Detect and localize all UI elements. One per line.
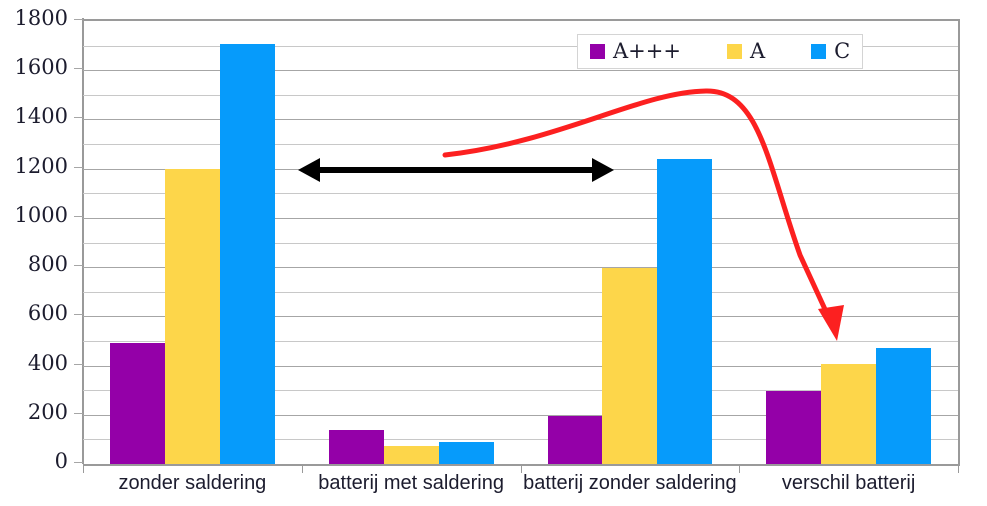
y-tick-label: 1600 [0, 57, 68, 78]
legend-item-a: A [727, 41, 765, 62]
y-tick-mark [74, 364, 83, 365]
x-axis-label-3: batterij zonder saldering [521, 472, 740, 495]
category-tick [958, 464, 959, 473]
y-tick-mark [74, 462, 83, 463]
x-axis-label-4: verschil batterij [739, 472, 958, 495]
chart-legend: A+++AC [577, 34, 863, 69]
bar-a-4 [821, 364, 876, 464]
y-tick-label: 600 [0, 303, 68, 324]
legend-label: A+++ [613, 41, 681, 62]
y-tick-label: 200 [0, 402, 68, 423]
y-tick-mark [74, 117, 83, 118]
y-tick-mark [74, 19, 83, 20]
legend-item-c: C [811, 41, 850, 62]
bar-chart: 020040060080010001200140016001800 zonder… [0, 0, 987, 506]
legend-swatch-icon [727, 44, 742, 59]
plot-area [83, 19, 960, 466]
y-tick-mark [74, 68, 83, 69]
legend-label: A [750, 41, 765, 62]
bar-aplusplusplus-4 [766, 391, 821, 464]
legend-item-aplusplusplus: A+++ [590, 41, 681, 62]
bar-group [83, 21, 958, 464]
x-axis-label-1: zonder saldering [83, 472, 302, 495]
y-tick-label: 800 [0, 254, 68, 275]
legend-label: C [834, 41, 850, 62]
y-tick-label: 1000 [0, 205, 68, 226]
y-tick-mark [74, 216, 83, 217]
y-tick-mark [74, 314, 83, 315]
y-tick-label: 1200 [0, 156, 68, 177]
y-tick-label: 400 [0, 353, 68, 374]
y-tick-mark [74, 167, 83, 168]
legend-swatch-icon [811, 44, 826, 59]
y-tick-mark [74, 265, 83, 266]
bar-c-4 [876, 348, 931, 464]
y-tick-label: 1800 [0, 8, 68, 29]
y-tick-mark [74, 413, 83, 414]
y-tick-label: 0 [0, 451, 68, 472]
y-tick-label: 1400 [0, 106, 68, 127]
legend-swatch-icon [590, 44, 605, 59]
x-axis-label-2: batterij met saldering [302, 472, 521, 495]
